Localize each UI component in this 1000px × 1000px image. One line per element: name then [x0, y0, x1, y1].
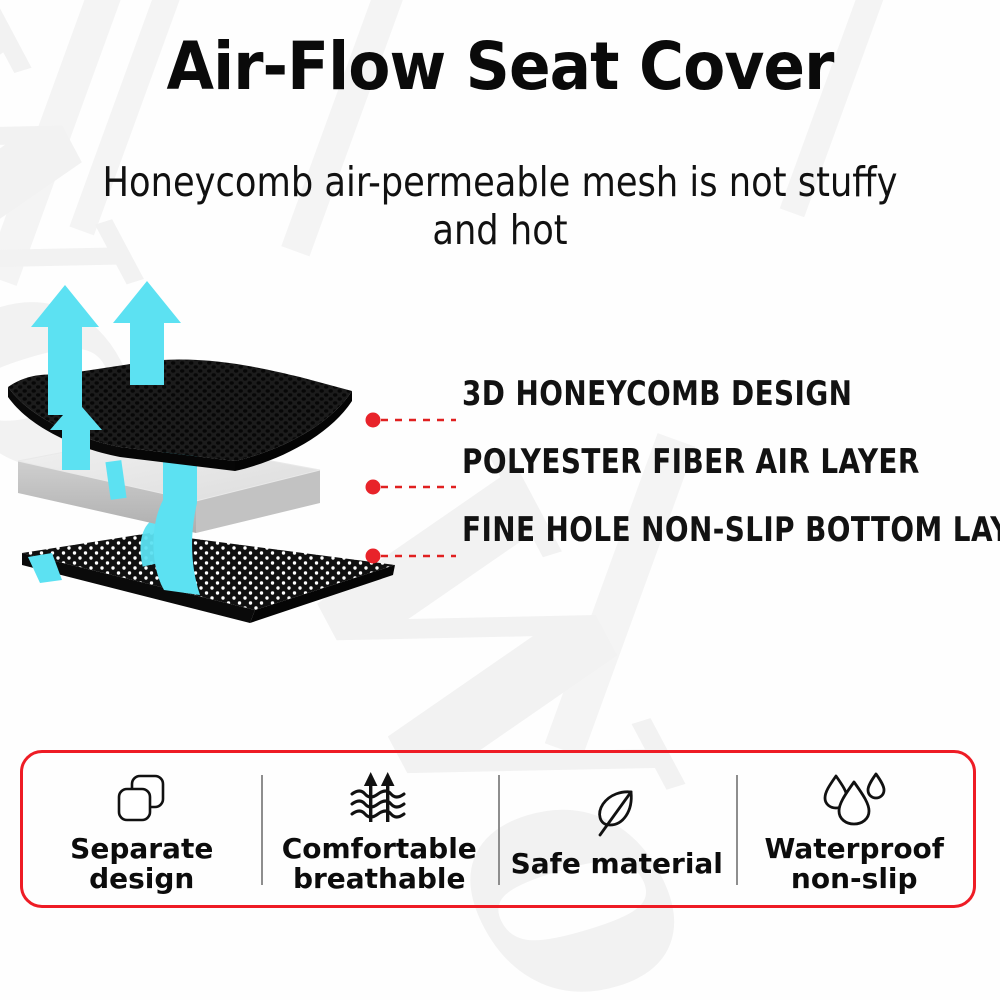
overlapping-squares-icon [113, 768, 171, 830]
feature-waterproof-nonslip[interactable]: Waterproof non-slip [736, 753, 974, 905]
callout-label-polyester: POLYESTER FIBER AIR LAYER [462, 428, 903, 496]
feature-safe-material[interactable]: Safe material [498, 753, 736, 905]
callout-label-bottom: FINE HOLE NON-SLIP BOTTOM LAYER [462, 496, 903, 564]
feature-bar: Separate design [20, 750, 976, 908]
product-illustration [0, 265, 420, 665]
infographic-page: Wo Wo Air-Flow Seat Cover Honeycomb air-… [0, 0, 1000, 1000]
leaf-icon [589, 783, 645, 845]
page-title: Air-Flow Seat Cover [35, 28, 965, 105]
callout-label-honeycomb: 3D HONEYCOMB DESIGN [462, 360, 903, 428]
layer-bottom-nonslip [22, 533, 395, 623]
feature-separate-design[interactable]: Separate design [23, 753, 261, 905]
feature-label: Waterproof non-slip [765, 834, 944, 893]
feature-comfortable-breathable[interactable]: Comfortable breathable [261, 753, 499, 905]
breathable-arrows-icon [348, 768, 410, 830]
feature-label: Safe material [511, 849, 723, 879]
feature-label: Separate design [70, 834, 213, 893]
callout-label-list: 3D HONEYCOMB DESIGN POLYESTER FIBER AIR … [462, 360, 1000, 564]
water-droplets-icon [821, 768, 887, 830]
feature-label: Comfortable breathable [282, 834, 477, 893]
page-subtitle: Honeycomb air-permeable mesh is not stuf… [70, 158, 930, 254]
